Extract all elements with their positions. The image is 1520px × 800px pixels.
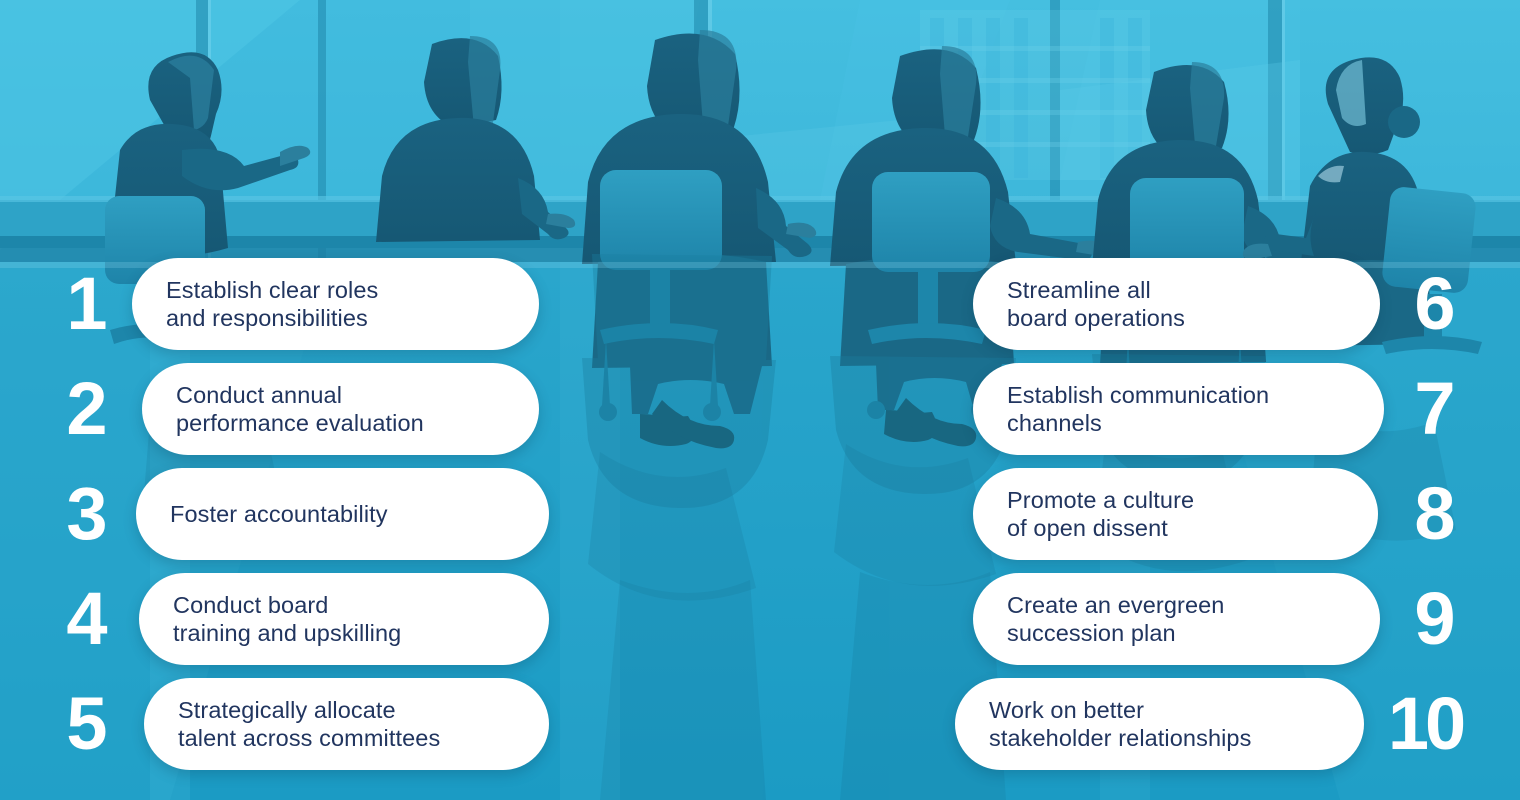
list-item[interactable]: 1 Establish clear roles and responsibili… bbox=[40, 258, 740, 350]
item-label: Conduct annual performance evaluation bbox=[176, 381, 424, 437]
item-number: 5 bbox=[40, 689, 132, 759]
list-item[interactable]: 6 Streamline all board operations bbox=[780, 258, 1480, 350]
item-card[interactable]: Streamline all board operations bbox=[973, 258, 1380, 350]
list-item[interactable]: 8 Promote a culture of open dissent bbox=[780, 468, 1480, 560]
list-column-left: 1 Establish clear roles and responsibili… bbox=[40, 0, 740, 800]
item-number: 8 bbox=[1388, 479, 1480, 549]
item-number: 3 bbox=[40, 479, 132, 549]
list-column-right: 6 Streamline all board operations 7 Esta… bbox=[780, 0, 1480, 800]
item-number: 7 bbox=[1388, 374, 1480, 444]
item-label: Create an evergreen succession plan bbox=[1007, 591, 1224, 647]
list-item[interactable]: 10 Work on better stakeholder relationsh… bbox=[780, 678, 1480, 770]
list-item[interactable]: 4 Conduct board training and upskilling bbox=[40, 573, 740, 665]
item-number: 1 bbox=[40, 269, 132, 339]
list-item[interactable]: 9 Create an evergreen succession plan bbox=[780, 573, 1480, 665]
item-card[interactable]: Work on better stakeholder relationships bbox=[955, 678, 1364, 770]
item-label: Streamline all board operations bbox=[1007, 276, 1185, 332]
item-number: 6 bbox=[1388, 269, 1480, 339]
item-label: Conduct board training and upskilling bbox=[173, 591, 401, 647]
item-card[interactable]: Conduct annual performance evaluation bbox=[142, 363, 539, 455]
item-card[interactable]: Strategically allocate talent across com… bbox=[144, 678, 549, 770]
item-number: 10 bbox=[1370, 689, 1480, 759]
item-label: Promote a culture of open dissent bbox=[1007, 486, 1194, 542]
item-label: Work on better stakeholder relationships bbox=[989, 696, 1251, 752]
item-label: Establish communication channels bbox=[1007, 381, 1269, 437]
item-label: Strategically allocate talent across com… bbox=[178, 696, 440, 752]
item-number: 4 bbox=[40, 584, 132, 654]
item-card[interactable]: Establish communication channels bbox=[973, 363, 1384, 455]
item-card[interactable]: Foster accountability bbox=[136, 468, 549, 560]
item-card[interactable]: Establish clear roles and responsibiliti… bbox=[132, 258, 539, 350]
item-card[interactable]: Conduct board training and upskilling bbox=[139, 573, 549, 665]
item-number: 9 bbox=[1388, 584, 1480, 654]
list-item[interactable]: 3 Foster accountability bbox=[40, 468, 740, 560]
item-card[interactable]: Create an evergreen succession plan bbox=[973, 573, 1380, 665]
item-card[interactable]: Promote a culture of open dissent bbox=[973, 468, 1378, 560]
item-number: 2 bbox=[40, 374, 132, 444]
item-label: Establish clear roles and responsibiliti… bbox=[166, 276, 378, 332]
item-label: Foster accountability bbox=[170, 500, 388, 528]
infographic-canvas: 1 Establish clear roles and responsibili… bbox=[0, 0, 1520, 800]
list-item[interactable]: 5 Strategically allocate talent across c… bbox=[40, 678, 740, 770]
list-item[interactable]: 7 Establish communication channels bbox=[780, 363, 1480, 455]
list-item[interactable]: 2 Conduct annual performance evaluation bbox=[40, 363, 740, 455]
